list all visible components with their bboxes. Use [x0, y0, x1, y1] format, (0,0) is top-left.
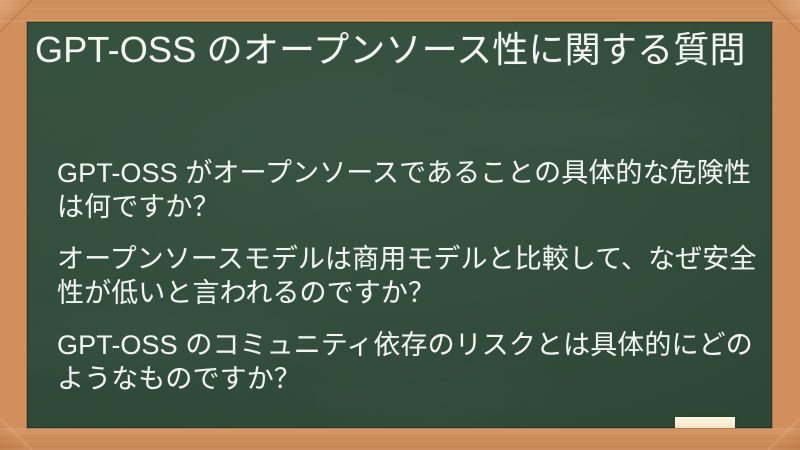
question-item: オープンソースモデルは商用モデルと比較して、なぜ安全性が低いと言われるのですか？ — [57, 242, 763, 310]
chalkboard-surface: GPT-OSS のオープンソース性に関する質問 GPT-OSS がオープンソース… — [27, 22, 772, 428]
question-item: GPT-OSS がオープンソースであることの具体的な危険性は何ですか？ — [57, 156, 763, 224]
question-item: GPT-OSS のコミュニティ依存のリスクとは具体的にどのようなものですか？ — [57, 328, 763, 396]
frame-top-rail — [0, 0, 800, 22]
chalkboard-slide: GPT-OSS のオープンソース性に関する質問 GPT-OSS がオープンソース… — [0, 0, 800, 450]
chalk-eraser-icon — [675, 417, 735, 428]
slide-title: GPT-OSS のオープンソース性に関する質問 — [35, 28, 765, 72]
question-list: GPT-OSS がオープンソースであることの具体的な危険性は何ですか？ オープン… — [57, 156, 763, 396]
frame-bottom-ledge — [0, 428, 800, 450]
slide-content: GPT-OSS のオープンソース性に関する質問 GPT-OSS がオープンソース… — [27, 22, 772, 428]
frame-corner-top-right — [768, 0, 800, 32]
frame-corner-bottom-right — [768, 418, 800, 450]
